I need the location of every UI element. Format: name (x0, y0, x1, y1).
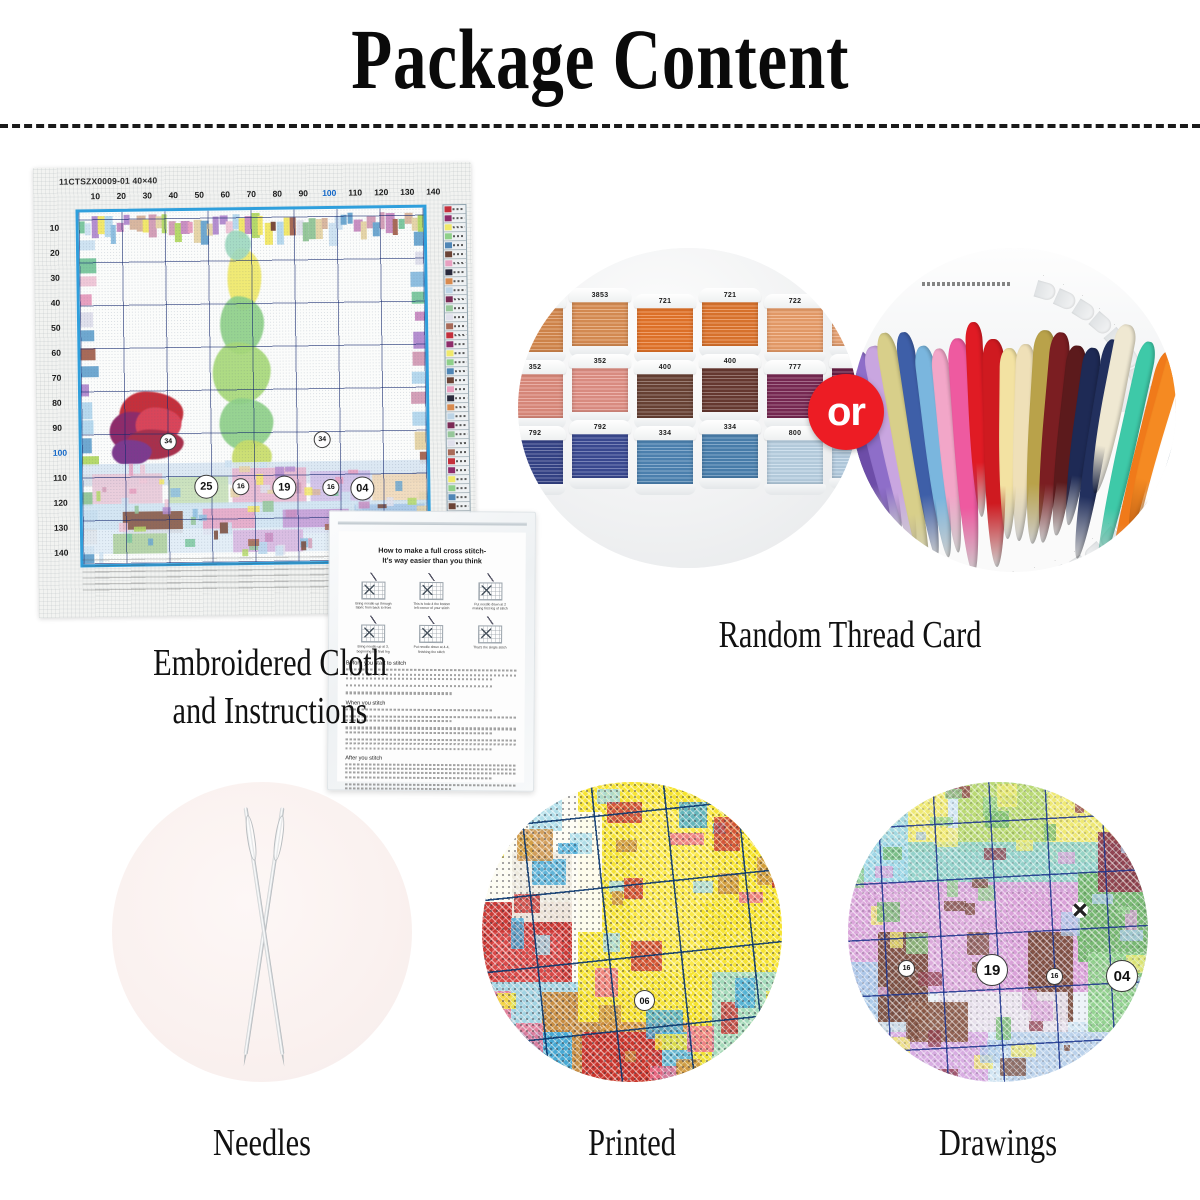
legend-swatch (446, 287, 453, 293)
thread-bobbin: 352 (518, 360, 566, 429)
legend-row (448, 502, 470, 511)
bobbin-code-label: 721 (659, 298, 672, 305)
legend-row (444, 268, 466, 277)
ruler-tick-v: 30 (50, 273, 60, 283)
notch-label: · (1114, 322, 1115, 327)
legend-row (445, 340, 467, 349)
cloth-marker-small: 34 (314, 431, 331, 448)
legend-row (447, 457, 469, 466)
caption-embroidered-cloth: Embroidered Cloth and Instructions (60, 640, 480, 735)
legend-swatch (447, 395, 454, 401)
legend-swatch (448, 476, 455, 482)
bobbin-tab: 400 (699, 354, 761, 368)
legend-swatch (448, 440, 455, 446)
notch-label: · (1043, 273, 1044, 278)
legend-swatch (446, 341, 453, 347)
legend-code-text (456, 442, 468, 444)
bobbin-floss (637, 440, 693, 484)
thread-bobbin: 334 (699, 420, 761, 495)
text-line (345, 788, 451, 791)
text-line (345, 747, 492, 750)
canvas-gridlines (482, 782, 782, 1082)
ruler-tick-h: 110 (348, 187, 362, 197)
legend-row (443, 205, 465, 214)
bobbin-foot (634, 484, 696, 495)
legend-code-text (455, 406, 467, 408)
stitch-step-caption: This is hole 4 the bottom left corner of… (412, 602, 452, 611)
legend-swatch (446, 296, 453, 302)
bobbin-floss (637, 374, 693, 418)
legend-swatch (448, 449, 455, 455)
instruction-title-line1: How to make a full cross stitch- (378, 546, 486, 556)
notch-label: · (1099, 306, 1100, 311)
cloth-marker-small: 34 (160, 433, 177, 450)
legend-swatch (446, 350, 453, 356)
legend-swatch (447, 359, 454, 365)
ruler-tick-h: 60 (220, 189, 230, 199)
x-symbol-icon (1072, 902, 1088, 918)
ruler-tick-v: 80 (52, 398, 62, 408)
legend-code-text (456, 433, 468, 435)
legend-swatch (445, 278, 452, 284)
legend-swatch (448, 431, 455, 437)
legend-row (445, 331, 467, 340)
legend-code-text (453, 226, 465, 228)
instruction-title-line2: It's way easier than you think (382, 556, 482, 566)
ruler-tick-h: 120 (374, 187, 388, 197)
text-line (345, 776, 492, 779)
ruler-tick-h: 130 (400, 187, 414, 197)
legend-swatch (445, 242, 452, 248)
ruler-tick-h: 40 (168, 190, 178, 200)
bobbin-code-label: 334 (724, 424, 737, 431)
drawings-pattern-circle: 19 04 16 16 (848, 782, 1148, 1082)
legend-row (445, 322, 467, 331)
legend-code-text (453, 280, 465, 282)
legend-row (445, 286, 467, 295)
bobbin-row: 352352400400777777 (518, 360, 858, 429)
instruction-title: How to make a full cross stitch- It's wa… (339, 531, 526, 569)
bobbin-tab: 352 (569, 354, 631, 368)
ruler-tick-v: 70 (52, 373, 62, 383)
ruler-tick-h: 10 (90, 191, 100, 201)
legend-swatch (445, 251, 452, 257)
legend-swatch (445, 215, 452, 221)
bobbin-code-label: 352 (529, 364, 542, 371)
legend-code-text (454, 352, 466, 354)
bobbin-tab: 722 (764, 294, 826, 308)
bobbin-foot (518, 484, 566, 495)
thread-skeins-circle: ···················· (852, 248, 1176, 572)
thread-bobbin: 3853 (569, 288, 631, 363)
printed-canvas-circle: 06 (482, 782, 782, 1082)
legend-code-text (455, 415, 467, 417)
legend-code-text (457, 496, 469, 498)
bobbin-tab: 3853 (518, 294, 566, 308)
thread-bobbins-circle: 3853385372172172272235235240040077777779… (518, 248, 858, 568)
legend-code-text (456, 469, 468, 471)
text-line (345, 743, 516, 746)
ruler-tick-v: 10 (50, 223, 60, 233)
legend-row (446, 412, 468, 421)
bobbin-code-label: 3853 (592, 292, 609, 299)
thread-bobbin: 3853 (518, 294, 566, 363)
legend-code-text (455, 379, 467, 381)
needle-icon (428, 573, 436, 581)
caption-printed: Printed (482, 1120, 782, 1168)
drawing-marker-16b: 16 (1046, 968, 1063, 985)
drawing-marker-04: 04 (1106, 960, 1138, 992)
caption-line-1: Needles (142, 1120, 382, 1168)
legend-code-text (454, 316, 466, 318)
bobbin-code-label: 352 (594, 358, 607, 365)
drawing-gridlines (848, 782, 1148, 1082)
legend-code-text (452, 208, 464, 210)
bobbin-code-label: 400 (724, 358, 737, 365)
bobbin-code-label: 3853 (527, 298, 544, 305)
legend-code-text (454, 325, 466, 327)
notch-label: · (1092, 536, 1093, 541)
bobbin-tab: 792 (518, 426, 566, 440)
instruction-heading-after: After you stitch (337, 755, 524, 762)
legend-row (445, 313, 467, 322)
caption-line-1: Printed (512, 1120, 752, 1168)
legend-row (447, 430, 469, 439)
legend-swatch (446, 314, 453, 320)
thread-bobbin: 334 (634, 426, 696, 495)
bobbin-foot (699, 478, 761, 489)
fabric-code-label: 11CTSZX0009-01 40×40 (59, 175, 157, 186)
ruler-tick-h: 80 (272, 189, 282, 199)
legend-swatch (445, 224, 452, 230)
needle-icon (369, 616, 377, 624)
legend-code-text (455, 370, 467, 372)
pattern-marker: 06 (634, 990, 655, 1011)
ruler-tick-v: 100 (53, 448, 67, 458)
bobbin-code-label: 777 (789, 364, 802, 371)
legend-code-text (455, 424, 467, 426)
legend-swatch (447, 404, 454, 410)
legend-swatch (446, 332, 453, 338)
ruler-tick-v: 90 (52, 423, 62, 433)
ruler-tick-v: 20 (50, 248, 60, 258)
legend-swatch (448, 467, 455, 473)
legend-row (446, 358, 468, 367)
bobbin-floss (702, 302, 758, 346)
legend-code-text (453, 217, 465, 219)
ruler-tick-h: 70 (246, 189, 256, 199)
drawing-marker-19: 19 (976, 954, 1008, 986)
legend-row (446, 376, 468, 385)
legend-code-text (453, 253, 465, 255)
organizer-code-text (922, 282, 1012, 286)
ruler-tick-v: 120 (53, 498, 67, 508)
text-line (345, 763, 516, 766)
notch-label: · (1054, 558, 1055, 563)
stitch-cell-icon (420, 582, 444, 600)
bobbin-tab: 721 (699, 288, 761, 302)
ruler-tick-v: 140 (54, 548, 68, 558)
stitch-step: This is hole 4 the bottom left corner of… (412, 573, 452, 611)
or-badge: or (808, 374, 884, 450)
caption-line-2: and Instructions (102, 688, 438, 736)
ruler-tick-v: 50 (51, 323, 61, 333)
bobbin-tab: 777 (764, 360, 826, 374)
caption-line-1: Embroidered Cloth (102, 640, 438, 688)
caption-needles: Needles (112, 1120, 412, 1168)
ruler-tick-h: 20 (116, 191, 126, 201)
stitch-cell-icon (478, 625, 502, 643)
stitch-step: Bring needle up through fabric from back… (353, 572, 393, 610)
legend-code-text (453, 235, 465, 237)
legend-row (447, 484, 469, 493)
text-line (345, 738, 516, 741)
legend-row (446, 421, 468, 430)
bobbin-floss (572, 302, 628, 346)
thread-bobbin: 722 (764, 294, 826, 363)
header: Package Content (0, 0, 1200, 118)
stitch-step-caption: Bring needle up through fabric from back… (353, 601, 393, 610)
embroidered-cloth-group: 11CTSZX0009-01 40×40 1020304050607080901… (36, 165, 496, 620)
legend-code-text (454, 307, 466, 309)
bobbin-floss (702, 368, 758, 412)
bobbin-floss (637, 308, 693, 352)
legend-row (446, 385, 468, 394)
bobbin-code-label: 400 (659, 364, 672, 371)
bobbin-tab: 352 (518, 360, 566, 374)
bobbin-code-label: 334 (659, 430, 672, 437)
bobbin-code-label: 800 (789, 430, 802, 437)
legend-row (444, 259, 466, 268)
legend-swatch (449, 503, 456, 509)
legend-swatch (446, 323, 453, 329)
legend-row (444, 277, 466, 286)
bobbin-floss (518, 440, 563, 484)
legend-row (447, 439, 469, 448)
notch-label: · (1063, 282, 1064, 287)
needle-icon (486, 616, 494, 624)
bobbin-floss (572, 368, 628, 412)
needle-icon (486, 573, 494, 581)
stitch-cell-icon (362, 581, 386, 599)
legend-swatch (447, 386, 454, 392)
legend-code-text (454, 289, 466, 291)
legend-row (444, 241, 466, 250)
drawing-marker-16a: 16 (898, 960, 915, 977)
legend-swatch (447, 377, 454, 383)
bobbin-tab: 334 (634, 426, 696, 440)
legend-code-text (457, 505, 469, 507)
ruler-tick-h: 140 (426, 186, 440, 196)
ruler-tick-v: 60 (51, 348, 61, 358)
stitch-step-caption: Put needle down at 2 making first leg of… (470, 602, 510, 611)
legend-code-text (455, 361, 467, 363)
legend-swatch (448, 485, 455, 491)
bobbin-tab: 721 (634, 294, 696, 308)
thread-bobbin: 721 (634, 294, 696, 363)
ruler-tick-v: 130 (54, 523, 68, 533)
legend-row (444, 214, 466, 223)
bobbin-code-label: 721 (724, 292, 737, 299)
legend-row (446, 403, 468, 412)
bobbin-tab: 400 (634, 360, 696, 374)
legend-code-text (453, 271, 465, 273)
bobbin-foot (569, 478, 631, 489)
infographic-page: Package Content 11CTSZX0009-01 40×40 102… (0, 0, 1200, 1200)
ruler-tick-h: 90 (298, 188, 308, 198)
ruler-tick-h: 50 (194, 190, 204, 200)
legend-code-text (453, 244, 465, 246)
legend-row (446, 367, 468, 376)
bobbin-tab: 3853 (569, 288, 631, 302)
legend-swatch (447, 413, 454, 419)
color-legend-strip (442, 204, 471, 558)
caption-drawings: Drawings (848, 1120, 1148, 1168)
stitch-step: Put needle down at 2 making first leg of… (470, 573, 510, 611)
legend-code-text (456, 478, 468, 480)
legend-code-text (456, 487, 468, 489)
caption-line-1: Random Thread Card (650, 612, 1050, 660)
thread-bobbin: 721 (699, 288, 761, 363)
legend-swatch (445, 260, 452, 266)
legend-swatch (447, 368, 454, 374)
text-line (345, 767, 516, 770)
notch-label: · (1034, 565, 1035, 570)
legend-row (446, 394, 468, 403)
bobbin-floss (767, 308, 823, 352)
legend-code-text (456, 460, 468, 462)
header-divider (0, 124, 1200, 128)
needles-circle (112, 782, 412, 1082)
stitch-diagram-row-1: Bring needle up through fabric from back… (338, 568, 525, 612)
ruler-tick-v: 110 (53, 473, 67, 483)
legend-code-text (453, 262, 465, 264)
legend-swatch (445, 269, 452, 275)
legend-swatch (445, 233, 452, 239)
legend-swatch (444, 206, 451, 212)
legend-code-text (455, 397, 467, 399)
bobbin-code-label: 722 (789, 298, 802, 305)
cloth-marker-small: 16 (322, 479, 339, 496)
bobbin-foot (829, 478, 858, 489)
caption-random-thread-card: Random Thread Card (600, 612, 1100, 660)
notch-label: · (1012, 569, 1013, 572)
needle-icon (370, 572, 378, 580)
bobbin-tab: 334 (699, 420, 761, 434)
legend-row (447, 466, 469, 475)
legend-row (445, 295, 467, 304)
thread-bobbin: 352 (569, 354, 631, 429)
legend-swatch (448, 458, 455, 464)
bobbin-tab: 792 (569, 420, 631, 434)
thread-bobbin: 400 (634, 360, 696, 429)
needle-icon (428, 616, 436, 624)
thread-bobbin: 792 (569, 420, 631, 495)
bobbin-code-label: 792 (594, 424, 607, 431)
legend-row (445, 349, 467, 358)
ruler-tick-v: 40 (51, 298, 61, 308)
ruler-tick-h: 30 (142, 190, 152, 200)
bobbin-code-label: 792 (529, 430, 542, 437)
bobbin-row: 792792334334800800 (518, 426, 858, 495)
bobbin-floss (518, 308, 563, 352)
thread-bobbin: 400 (699, 354, 761, 429)
text-line (345, 772, 516, 775)
legend-row (444, 232, 466, 241)
legend-row (444, 223, 466, 232)
page-title: Package Content (351, 16, 849, 102)
legend-code-text (455, 388, 467, 390)
bobbin-foot (764, 484, 826, 495)
legend-row (447, 493, 469, 502)
legend-row (445, 304, 467, 313)
legend-row (447, 448, 469, 457)
legend-row (447, 475, 469, 484)
legend-swatch (448, 494, 455, 500)
caption-line-1: Drawings (878, 1120, 1118, 1168)
stitch-cell-icon (478, 582, 502, 600)
bobbin-floss (767, 440, 823, 484)
legend-code-text (454, 343, 466, 345)
notch-label: · (1082, 293, 1083, 298)
thread-bobbin: 792 (518, 426, 566, 495)
legend-swatch (447, 422, 454, 428)
legend-code-text (454, 298, 466, 300)
legend-code-text (456, 451, 468, 453)
bobbin-floss (702, 434, 758, 478)
legend-swatch (446, 305, 453, 311)
legend-code-text (454, 334, 466, 336)
bobbin-row: 38533853721721722722 (518, 294, 858, 363)
bobbin-floss (572, 434, 628, 478)
or-badge-label: or (827, 392, 865, 432)
ruler-tick-h: 100 (322, 188, 336, 198)
legend-row (444, 250, 466, 259)
bobbin-floss (518, 374, 563, 418)
bag-zipper (338, 521, 527, 525)
